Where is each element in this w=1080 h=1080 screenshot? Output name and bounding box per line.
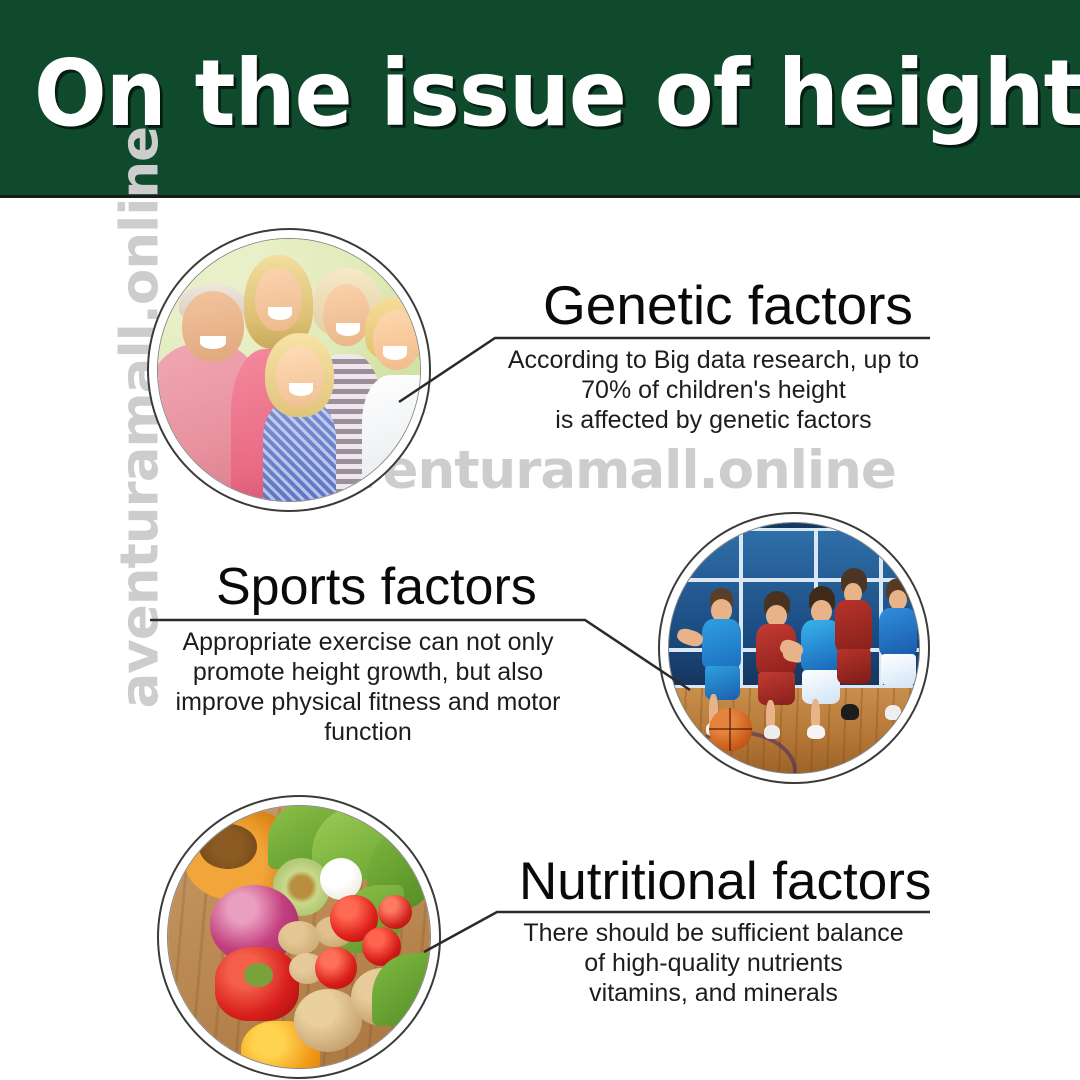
nutrition-body-line-2: of high-quality nutrients <box>497 948 930 978</box>
nutrition-body: There should be sufficient balance of hi… <box>497 918 930 1008</box>
nutrition-body-line-3: vitamins, and minerals <box>497 978 930 1008</box>
nutrition-heading: Nutritional factors <box>519 855 931 908</box>
infographic-canvas: On the issue of height growth aventurama… <box>0 0 1080 1080</box>
nutrition-body-line-1: There should be sufficient balance <box>497 918 930 948</box>
